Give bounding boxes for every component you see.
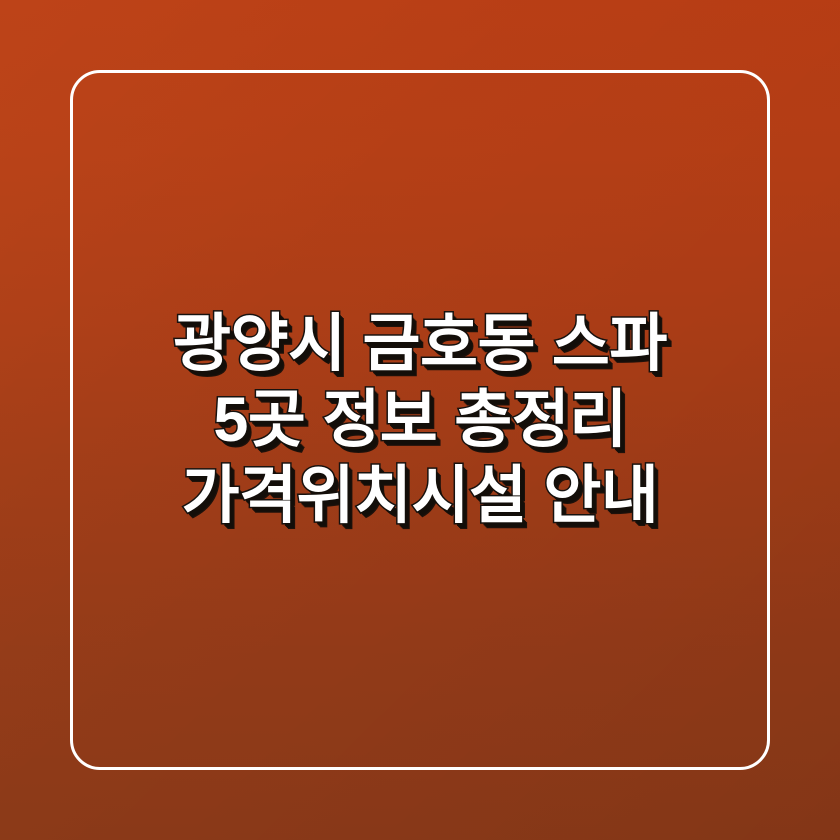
title-line-1: 광양시 금호동 스파 (92, 306, 748, 382)
title-line-3: 가격위치시설 안내 (92, 458, 748, 534)
thumbnail-canvas: 광양시 금호동 스파 5곳 정보 총정리 가격위치시설 안내 (0, 0, 840, 840)
title-line-2: 5곳 정보 총정리 (92, 382, 748, 458)
title-block: 광양시 금호동 스파 5곳 정보 총정리 가격위치시설 안내 (70, 70, 770, 770)
